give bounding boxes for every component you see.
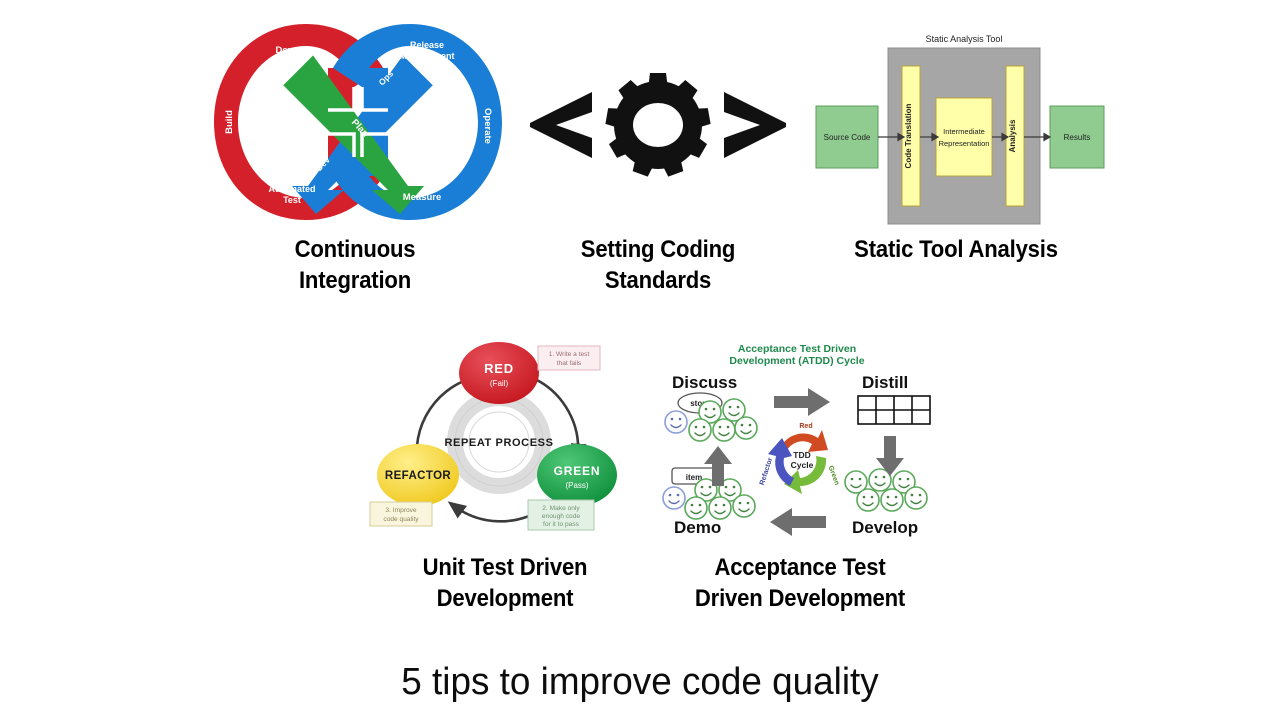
devops-label-automated-test: Automated: [269, 184, 316, 194]
atdd-inner-label-green: Green: [827, 465, 840, 486]
tdd-callout-improve-quality: 3. Improve code quality: [370, 502, 432, 526]
source-code-label: Source Code: [824, 133, 871, 142]
right-angle-bracket-icon: [724, 92, 786, 158]
tdd-callout-write-test: 1. Write a test that fails: [538, 346, 600, 370]
tdd-callout-enough-code: 2. Make only enough code for it to pass: [528, 500, 594, 530]
code-translation-label: Code Translation: [904, 103, 913, 168]
svg-text:RED: RED: [484, 361, 514, 376]
atdd-label-develop: Develop: [852, 518, 918, 537]
tdd-node-red: RED (Fail): [459, 342, 539, 404]
svg-text:3. Improve: 3. Improve: [385, 507, 416, 514]
caption-setting-coding-standards: Setting Coding Standards: [548, 234, 769, 296]
figure-devops-infinity-loop: Develop Build Automated Test Plan Dev Op…: [208, 18, 508, 226]
devops-label-operate: Operate: [482, 108, 493, 144]
atdd-inner-label-red: Red: [799, 423, 812, 430]
caption-static-tool-analysis: Static Tool Analysis: [846, 234, 1067, 265]
intermediate-representation-label-1: Intermediate: [943, 127, 985, 136]
atdd-title-line1: Acceptance Test Driven: [738, 343, 856, 355]
analysis-label: Analysis: [1008, 119, 1017, 152]
svg-text:GREEN: GREEN: [554, 464, 601, 478]
devops-label-automated-test2: Test: [283, 195, 301, 205]
intermediate-representation-label-2: Representation: [939, 139, 990, 148]
caption-unit-test-driven-development: Unit Test Driven Development: [395, 552, 616, 614]
atdd-crowd-develop: [845, 469, 927, 511]
figure-static-analysis-pipeline: Static Analysis Tool Source Code Code Tr…: [806, 24, 1106, 224]
devops-label-release: Release: [410, 40, 444, 50]
tdd-center-label: REPEAT PROCESS: [444, 437, 553, 449]
figure-red-green-refactor-cycle: REPEAT PROCESS RED (Fail) GREEN (Pass): [368, 342, 634, 536]
figure-angle-brackets-gear: [528, 60, 788, 190]
svg-text:REFACTOR: REFACTOR: [385, 470, 452, 482]
caption-continuous-integration: Continuous Integration: [245, 234, 466, 296]
atdd-inner-label-refactor: Refactor: [759, 457, 775, 486]
atdd-title-line2: Development (ATDD) Cycle: [729, 355, 864, 367]
devops-label-release2: Management: [399, 51, 454, 61]
svg-text:2. Make only: 2. Make only: [542, 505, 580, 512]
figure-atdd-cycle: Acceptance Test Driven Development (ATDD…: [656, 340, 938, 540]
svg-text:(Fail): (Fail): [490, 379, 509, 388]
atdd-label-distill: Distill: [862, 373, 908, 392]
devops-label-build: Build: [224, 110, 235, 134]
svg-text:enough code: enough code: [542, 513, 580, 520]
slide-canvas: Develop Build Automated Test Plan Dev Op…: [0, 0, 1280, 720]
left-angle-bracket-icon: [530, 92, 592, 158]
atdd-inner-label-2: Cycle: [791, 460, 814, 470]
atdd-inner-label-1: TDD: [793, 450, 810, 460]
atdd-inner-tdd-cycle: TDD Cycle Red Green Refactor: [759, 423, 840, 494]
svg-text:for it to pass: for it to pass: [543, 521, 580, 528]
tdd-node-refactor: REFACTOR: [377, 444, 459, 506]
static-tool-title: Static Analysis Tool: [926, 34, 1003, 44]
intermediate-representation-box: [936, 98, 992, 176]
results-label: Results: [1064, 133, 1091, 142]
devops-label-measure: Measure: [403, 192, 442, 203]
gear-icon: [605, 73, 711, 177]
svg-text:1. Write a test: 1. Write a test: [549, 351, 590, 358]
atdd-crowd-demo: [663, 479, 755, 519]
atdd-label-demo: Demo: [674, 518, 721, 537]
atdd-label-discuss: Discuss: [672, 373, 737, 392]
svg-text:(Pass): (Pass): [565, 481, 588, 490]
tdd-node-green: GREEN (Pass): [537, 444, 617, 506]
svg-text:code quality: code quality: [383, 516, 419, 523]
svg-text:that fails: that fails: [557, 360, 582, 367]
devops-label-develop: Develop: [276, 45, 313, 56]
deck-title: 5 tips to improve code quality: [19, 662, 1261, 704]
atdd-distill-table: [858, 396, 930, 424]
caption-acceptance-test-driven-development: Acceptance Test Driven Development: [680, 552, 919, 614]
